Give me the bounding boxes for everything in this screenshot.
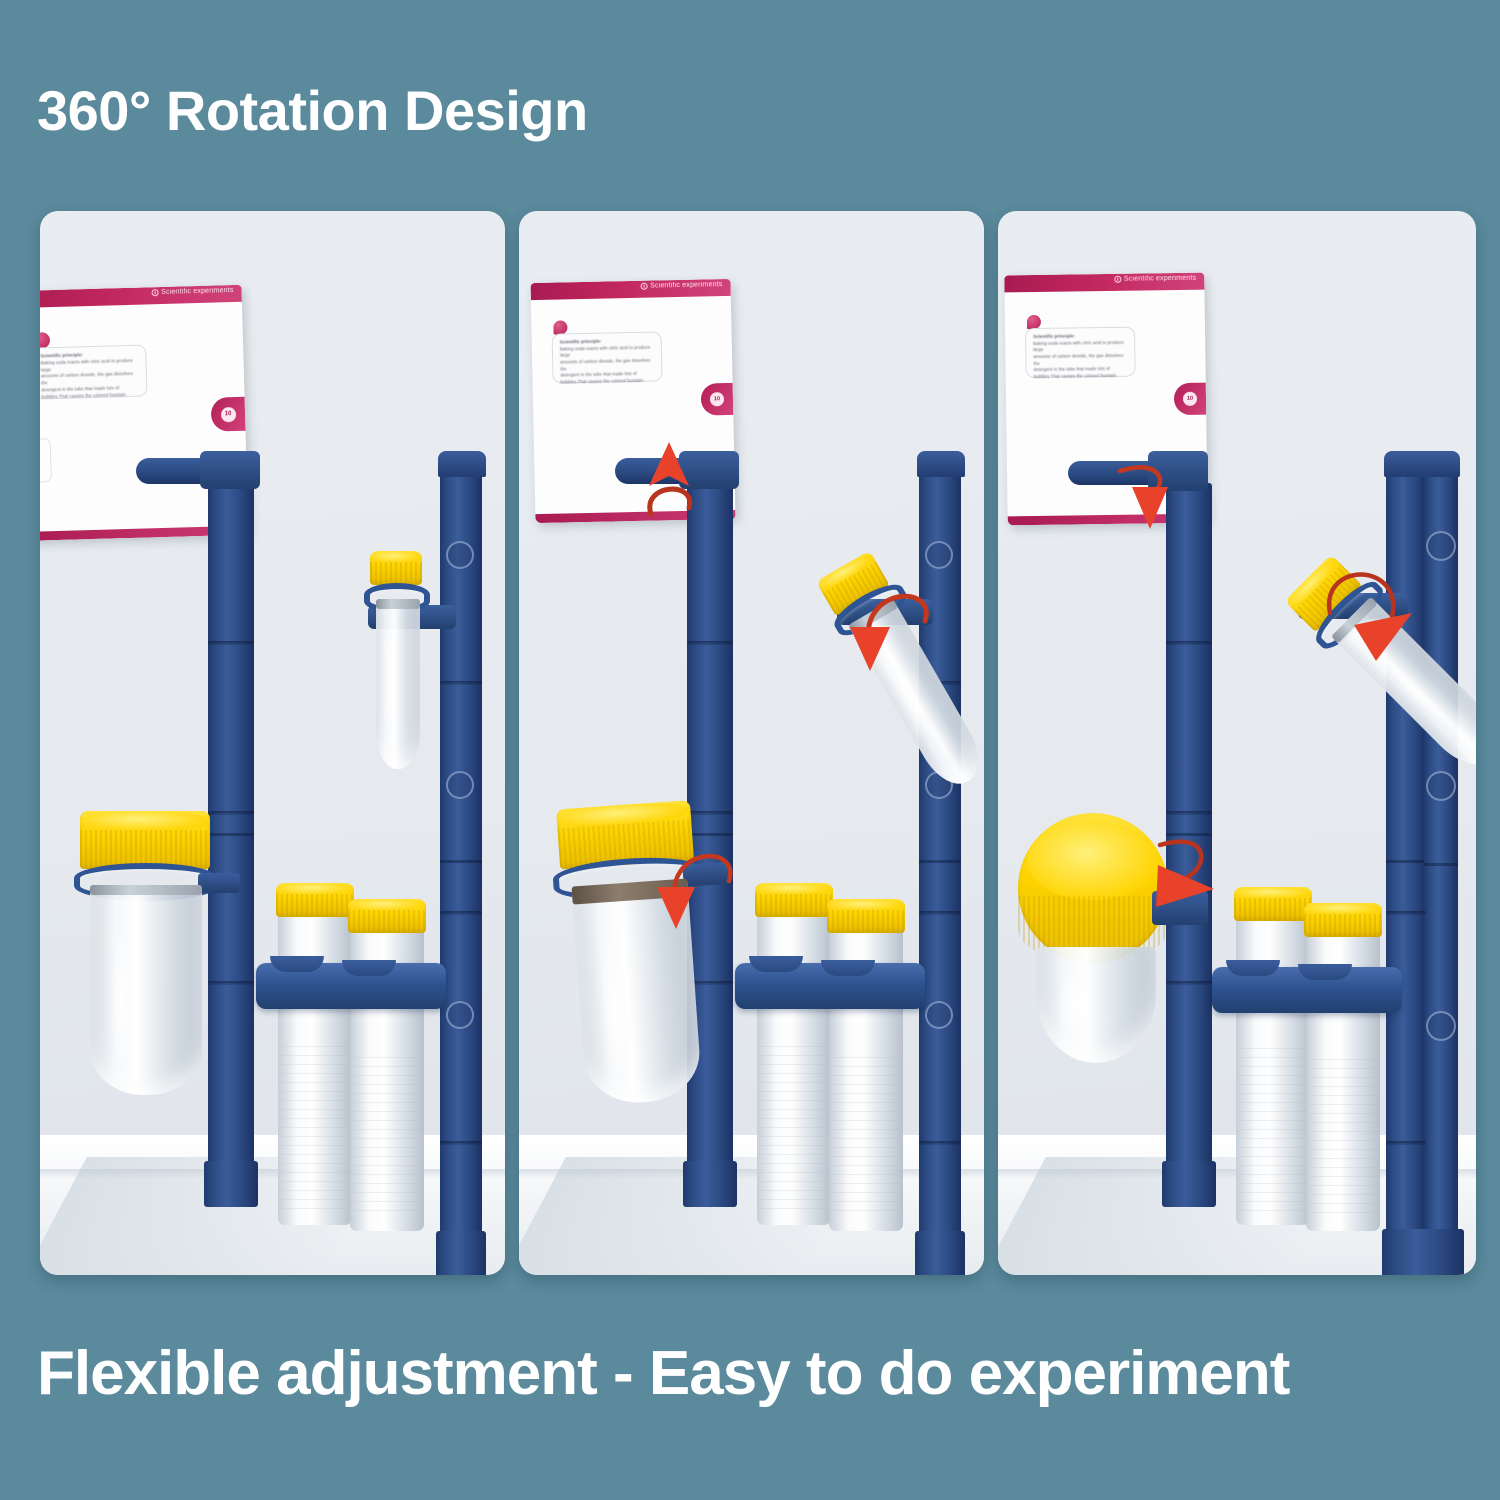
card-header-label: Scientific experiments [650, 281, 723, 290]
page-number: 10 [710, 392, 724, 406]
card-header-label-wrap: Scientific experiments [1114, 275, 1197, 283]
yellow-screw-cap[interactable] [348, 899, 426, 933]
speech-bubble-dot [40, 332, 50, 348]
yellow-screw-cap[interactable] [80, 811, 210, 869]
post-connector-ring [925, 1001, 953, 1029]
page-badge: 10 [1174, 383, 1206, 415]
rack-tube-left [278, 907, 352, 1225]
panel-fully-rotated-position: Scientific experiments Scientific princi… [998, 211, 1476, 1275]
clear-test-tube [572, 879, 703, 1107]
post-seam [208, 641, 254, 645]
rear-post-foot [436, 1231, 486, 1275]
peg-rail [679, 451, 739, 489]
upper-tube-assembly[interactable] [356, 551, 428, 811]
rack-tube-left [1236, 911, 1310, 1225]
lower-tube-assembly[interactable] [58, 811, 218, 1111]
page-subtitle: Flexible adjustment - Easy to do experim… [37, 1338, 1289, 1409]
two-slot-tube-rack [735, 963, 925, 1009]
card-caption-cn: 实验中需要家长陪同。 注意实验安全。 [40, 486, 56, 503]
card-header-label-wrap: Scientific experiments [640, 281, 723, 290]
principle-line-4: bubbles.That causes the colored fountain… [561, 377, 655, 386]
post-connector-ring [446, 541, 474, 569]
post-seam [687, 641, 733, 645]
rear-post [440, 465, 482, 1255]
rear-post-cap [438, 451, 486, 477]
clamp-arm [1152, 891, 1208, 925]
post-seam [1166, 641, 1212, 645]
clamp-arm [682, 861, 731, 886]
front-post-foot [1162, 1161, 1216, 1207]
principle-line-4: bubbles.That causes the colored fountain… [1034, 373, 1128, 381]
clamp-arm [198, 873, 240, 893]
post-seam [919, 1141, 961, 1145]
clear-test-tube [90, 885, 202, 1095]
card-header-label: Scientific experiments [161, 287, 234, 296]
clear-test-tube [1036, 947, 1156, 1063]
rear-post-foot [1382, 1229, 1464, 1275]
rear-post-cap [1384, 451, 1460, 477]
page-number: 10 [1183, 392, 1197, 406]
card-header-bar: Scientific experiments [40, 285, 242, 309]
card-header-label-wrap: Scientific experiments [151, 287, 234, 296]
yellow-screw-cap[interactable] [755, 883, 833, 917]
post-connector-ring [925, 541, 953, 569]
post-connector-ring [1426, 531, 1456, 561]
principle-line-1: Baking soda reacts with citric acid to p… [1033, 339, 1127, 354]
page-number: 10 [220, 406, 235, 421]
page-badge: 10 [701, 383, 734, 416]
two-slot-tube-rack [256, 963, 446, 1009]
lower-tube-assembly[interactable] [534, 798, 735, 1120]
page-title: 360° Rotation Design [37, 78, 588, 143]
clock-icon [1114, 276, 1121, 283]
card-mini-illustration [40, 438, 52, 484]
tube-glare [110, 931, 132, 1071]
principle-text-box: Scientific principle: Baking soda reacts… [40, 344, 148, 399]
post-seam [1386, 911, 1426, 915]
clear-test-tube [376, 599, 420, 769]
panel-upright-position: Scientific experiments Scientific princi… [40, 211, 505, 1275]
rear-post-cap [917, 451, 965, 477]
rear-post [1386, 465, 1426, 1255]
two-slot-tube-rack [1212, 967, 1402, 1013]
card-header-label: Scientific experiments [1124, 275, 1197, 283]
principle-line-4: bubbles.That causes the colored fountain… [41, 392, 139, 402]
clock-icon [151, 289, 158, 296]
peg-rail [1148, 451, 1208, 491]
post-seam [440, 911, 482, 915]
clock-icon [640, 283, 647, 290]
post-connector-ring [446, 771, 474, 799]
rack-tube-left [757, 907, 831, 1225]
card-header-bar: Scientific experiments [1004, 273, 1204, 293]
front-post-foot [683, 1161, 737, 1207]
post-seam [919, 911, 961, 915]
yellow-screw-cap[interactable] [1304, 903, 1382, 937]
front-post-foot [204, 1161, 258, 1207]
principle-line-2: amounts of carbon dioxide, the gas disso… [1033, 353, 1127, 368]
tube-glare [386, 631, 396, 731]
rear-post [919, 465, 961, 1255]
post-seam [440, 681, 482, 685]
yellow-screw-cap[interactable] [1018, 813, 1168, 963]
yellow-screw-cap[interactable] [370, 551, 422, 585]
post-connector-ring [446, 1001, 474, 1029]
panel-partially-rotated-position: Scientific experiments Scientific princi… [519, 211, 984, 1275]
peg-rail [200, 451, 260, 489]
yellow-screw-cap[interactable] [827, 899, 905, 933]
yellow-screw-cap[interactable] [1234, 887, 1312, 921]
post-connector-ring [1426, 1011, 1456, 1041]
yellow-screw-cap[interactable] [276, 883, 354, 917]
post-seam [1386, 1141, 1426, 1145]
post-seam [440, 1141, 482, 1145]
principle-text-box: Scientific principle: Baking soda reacts… [552, 331, 663, 383]
principle-text-box: Scientific principle: Baking soda reacts… [1025, 327, 1136, 379]
tube-glare [1058, 971, 1088, 1041]
rear-post-foot [915, 1231, 965, 1275]
card-header-bar: Scientific experiments [531, 279, 731, 300]
rear-post-secondary [1424, 473, 1458, 1253]
lower-tube-assembly[interactable] [998, 799, 1204, 1099]
page-badge: 10 [211, 397, 246, 432]
